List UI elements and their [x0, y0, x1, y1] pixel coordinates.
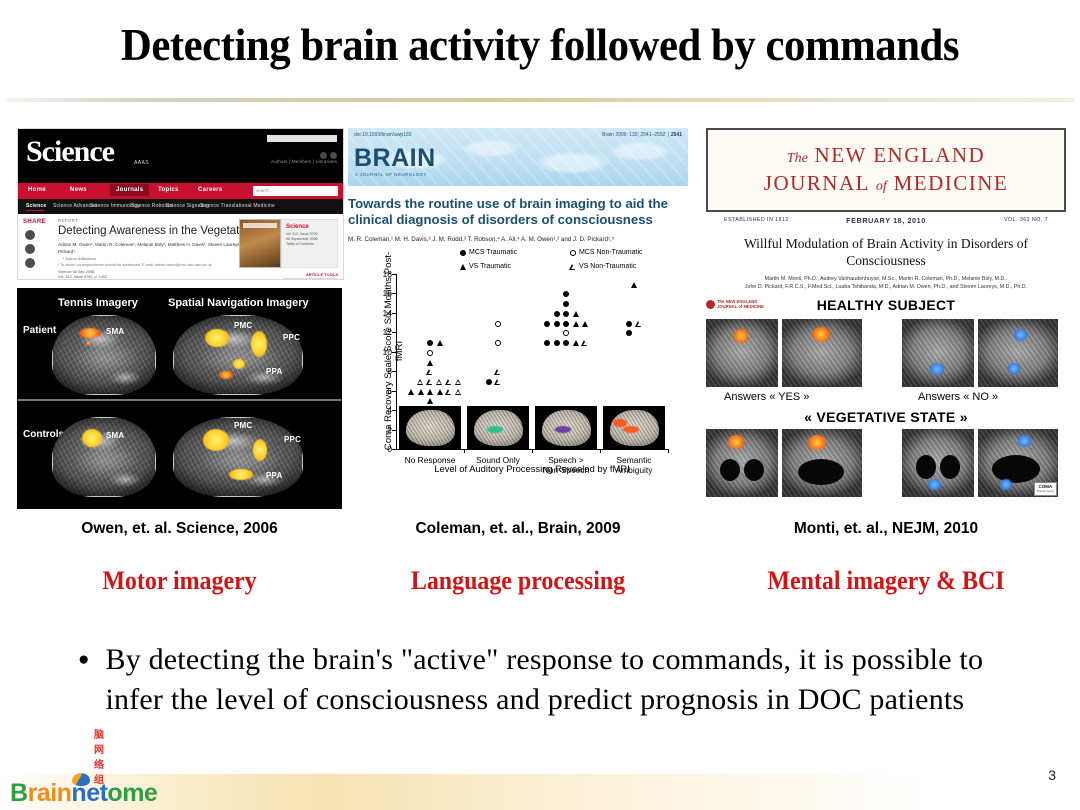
science-search-placeholder: search...: [256, 186, 338, 196]
coleman-scatter-chart: MCS Traumatic MCS Non-Traumatic VS Traum…: [348, 248, 688, 486]
cover-banner: [243, 223, 277, 228]
chart-y-tick-mark: [392, 371, 396, 372]
region-label-ppa: PPA: [266, 471, 282, 480]
science-article-body: SHARE REPORT Detecting Awareness in the …: [18, 214, 343, 279]
activation-blob: [203, 429, 229, 451]
region-label-ppc: PPC: [283, 333, 300, 342]
brain-citation: Brain 2009: 132; 2541–2552 | 2541: [602, 132, 682, 138]
caption-coleman: Coleman, et. al., Brain, 2009: [348, 520, 688, 538]
answer-label-no: Answers « NO »: [918, 391, 998, 403]
thumbnail-activation: [487, 426, 503, 433]
activation-blob: [86, 341, 91, 345]
subnav-item-science[interactable]: Science: [26, 203, 46, 209]
chart-data-point: [544, 314, 550, 332]
title-divider: [6, 98, 1074, 102]
nav-item-topics[interactable]: Topics: [158, 187, 179, 193]
chart-x-axis-label: Level of Auditory Processing Revealed by…: [396, 463, 668, 474]
logo-letter-b: B: [10, 779, 28, 807]
activation-blob: [930, 363, 944, 375]
marker-filled-triangle: [408, 389, 414, 395]
chart-y-tick-label: 18: [382, 269, 392, 279]
chart-data-point: [486, 372, 492, 390]
scan-vs-yes-coronal: [706, 429, 778, 497]
scan-healthy-no-coronal: [902, 319, 974, 387]
marker-filled-triangle: [582, 321, 588, 327]
activation-blob: [251, 331, 267, 357]
brain-scan-patient-tennis: [52, 315, 156, 395]
brain-journal-tagline: A JOURNAL OF NEUROLOGY: [355, 172, 427, 177]
article-authors: Adrian M. Owen¹, Martin R. Coleman¹, Mel…: [58, 241, 263, 255]
subnav-item-translational[interactable]: Science Translational Medicine: [200, 203, 275, 209]
enlarged-ventricle: [940, 455, 960, 479]
scan-vs-no-coronal: [902, 429, 974, 497]
coma-badge-subtitle: Science Group: [1037, 489, 1054, 494]
enlarged-ventricle: [992, 455, 1040, 483]
red-label-language-processing: Language processing: [362, 566, 675, 596]
nejm-article-authors: Martin M. Monti, Ph.D., Audrey Vanhauden…: [706, 275, 1066, 291]
chart-data-point: [427, 391, 433, 409]
logo-text-ome: ome: [107, 779, 157, 807]
journal-cover-thumbnail[interactable]: [239, 219, 281, 268]
science-primary-nav[interactable]: Home News Journals Topics Careers search…: [18, 183, 343, 199]
marker-filled-circle: [626, 330, 632, 336]
activation-blob: [812, 327, 830, 342]
facebook-icon[interactable]: [25, 230, 35, 240]
marker-filled-triangle: [573, 340, 579, 346]
chart-data-point: [418, 382, 424, 400]
chart-data-point: [582, 333, 588, 351]
marker-filled-circle: [486, 379, 492, 385]
aaas-label: AAAS: [134, 160, 149, 166]
brain-journal-title: BRAIN: [354, 144, 436, 173]
activation-blob: [928, 479, 941, 490]
science-top-search-box[interactable]: [267, 135, 337, 142]
region-label-ppc: PPC: [284, 435, 301, 444]
activation-blob: [1008, 363, 1020, 374]
science-secondary-nav[interactable]: Science Science Advances Science Immunol…: [18, 199, 343, 214]
chart-x-tick-mark: [532, 449, 533, 453]
legend-marker-open-triangle: [570, 264, 576, 270]
figure-heading-vegetative: « VEGETATIVE STATE »: [706, 409, 1066, 425]
legend-marker-filled-triangle: [460, 264, 466, 270]
issue-journal-name: Science: [286, 224, 337, 230]
activation-blob: [1014, 329, 1027, 341]
share-icons[interactable]: [25, 230, 35, 272]
caption-owen: Owen, et. al. Science, 2006: [17, 520, 342, 538]
legend-marker-filled-circle: [460, 250, 466, 256]
activation-blob: [233, 359, 245, 369]
nejm-volume: VOL. 362 NO. 7: [1004, 217, 1048, 223]
nejm-journal: JOURNAL: [764, 171, 869, 195]
nejm-of: of: [876, 179, 887, 194]
science-logo: Science: [26, 135, 114, 169]
marker-filled-triangle: [437, 340, 443, 346]
activation-blob: [82, 429, 102, 447]
activation-blob: [734, 329, 748, 343]
chart-data-point: [636, 314, 642, 332]
chart-data-point: [408, 382, 414, 400]
article-citation: Science 08 Sep 2006: Vol. 313, Issue 579…: [58, 270, 110, 280]
brain-thumbnail: [603, 406, 665, 449]
nejm-the: The: [787, 151, 808, 166]
nejm-new-england: NEW ENGLAND: [815, 143, 986, 167]
scan-healthy-yes-coronal: [706, 319, 778, 387]
scan-healthy-yes-sagittal: [782, 319, 862, 387]
legend-label-mcs-nontraumatic: MCS Non-Traumatic: [579, 249, 643, 256]
scan-healthy-no-sagittal: [978, 319, 1058, 387]
region-label-sma: SMA: [106, 327, 124, 336]
chart-data-point: [437, 382, 443, 400]
marker-open-triangle: [456, 389, 462, 395]
nejm-meta-row: ESTABLISHED IN 1812 FEBRUARY 18, 2010 VO…: [706, 217, 1066, 228]
chart-data-point: [446, 382, 452, 400]
chart-data-point: [544, 333, 550, 351]
nav-item-careers[interactable]: Careers: [198, 187, 222, 193]
chart-x-tick-mark: [668, 449, 669, 453]
chart-data-point: [631, 275, 637, 293]
nejm-date: FEBRUARY 18, 2010: [846, 216, 926, 225]
subnav-active-underline: [26, 210, 44, 211]
chart-y-tick-mark: [392, 293, 396, 294]
chart-data-point: [554, 333, 560, 351]
chart-x-tick-mark: [600, 449, 601, 453]
activation-blob: [229, 469, 253, 480]
red-label-motor-imagery: Motor imagery: [30, 566, 329, 596]
activation-blob: [253, 439, 267, 461]
chart-data-point: [563, 333, 569, 351]
chart-y-tick-label: 16: [382, 288, 392, 298]
logo-text-rain: rain: [28, 779, 72, 807]
region-label-ppa: PPA: [266, 367, 282, 376]
region-label-pmc: PMC: [234, 321, 252, 330]
monti-figure: The NEW ENGLAND JOURNAL of MEDICINE HEAL…: [706, 297, 1066, 497]
activation-blob: [808, 435, 826, 450]
panel-nejm: The NEW ENGLAND JOURNAL of MEDICINE ESTA…: [706, 128, 1066, 497]
legend-label-mcs-traumatic: MCS Traumatic: [469, 249, 517, 256]
chart-y-axis-line: [396, 274, 397, 449]
activation-blob: [728, 435, 744, 449]
thumbnail-activation: [555, 426, 571, 433]
region-label-sma: SMA: [106, 431, 124, 440]
chart-y-tick-mark: [392, 332, 396, 333]
marker-filled-triangle: [418, 389, 424, 395]
scan-vs-no-sagittal: COMA Science Group: [978, 429, 1058, 497]
chart-data-point: [626, 323, 632, 341]
nejm-established: ESTABLISHED IN 1812: [724, 217, 789, 223]
marker-open-circle: [495, 340, 501, 346]
chart-y-tick-mark: [392, 430, 396, 431]
marker-filled-circle: [544, 340, 550, 346]
marker-open-triangle: [446, 389, 452, 395]
figure-heading-healthy: HEALTHY SUBJECT: [706, 297, 1066, 313]
owen-fmri-figure: Tennis Imagery Spatial Navigation Imager…: [17, 288, 342, 509]
activation-blob: [205, 329, 229, 347]
legend-label-vs-nontraumatic: VS Non-Traumatic: [579, 263, 636, 270]
chart-data-point: [573, 314, 579, 332]
caption-monti: Monti, et. al., NEJM, 2010: [706, 520, 1066, 538]
nav-item-journals[interactable]: Journals: [110, 184, 149, 196]
enlarged-ventricle: [720, 459, 740, 481]
chart-data-point: [554, 314, 560, 332]
coma-science-group-badge: COMA Science Group: [1034, 482, 1057, 496]
science-search-input[interactable]: search...: [253, 186, 338, 196]
region-label-pmc: PMC: [234, 421, 252, 430]
chart-y-tick-mark: [392, 391, 396, 392]
bullet-marker-icon: ●: [78, 640, 89, 720]
brain-thumbnail: [467, 406, 529, 449]
bullet-list: ● By detecting the brain's "active" resp…: [78, 640, 1038, 720]
figure-row-divider: [18, 399, 342, 401]
chart-y-tick-mark: [392, 449, 396, 450]
bullet-text: By detecting the brain's "active" respon…: [105, 640, 1038, 720]
chart-data-point: [495, 314, 501, 332]
nejm-article-title: Willful Modulation of Brain Activity in …: [706, 235, 1066, 269]
marker-filled-circle: [544, 321, 550, 327]
chart-data-point: [573, 333, 579, 351]
science-website-screenshot: Science AAAS Authors | Members | Librari…: [17, 128, 344, 280]
nejm-masthead-line2: JOURNAL of MEDICINE: [708, 171, 1064, 196]
share-label: SHARE: [23, 219, 46, 225]
enlarged-ventricle: [916, 455, 936, 479]
scan-vs-yes-sagittal: [782, 429, 862, 497]
article-kicker: REPORT: [58, 218, 78, 223]
thumbnail-activation: [623, 426, 639, 433]
nejm-masthead-line1: The NEW ENGLAND: [708, 143, 1064, 168]
chart-y-tick-label: 10: [382, 347, 392, 357]
marker-filled-triangle: [437, 389, 443, 395]
panel-science: Science AAAS Authors | Members | Librari…: [17, 128, 342, 509]
marker-open-triangle: [495, 379, 501, 385]
email-icon[interactable]: [25, 258, 35, 268]
marker-filled-circle: [563, 340, 569, 346]
brain-thumbnail: [399, 406, 461, 449]
twitter-icon[interactable]: [25, 244, 35, 254]
page-title: Detecting brain activity followed by com…: [38, 18, 1042, 71]
chart-data-point: [495, 372, 501, 390]
marker-open-circle: [495, 321, 501, 327]
thumbnail-activation: [613, 419, 627, 427]
answer-label-yes: Answers « YES »: [724, 391, 809, 403]
brain-citation-text: Brain 2009: 132; 2541–2552: [602, 132, 665, 138]
enlarged-ventricle: [798, 459, 844, 485]
issue-meta: Vol 313, Issue 5792 08 September 2006 Ta…: [286, 232, 337, 247]
brain-article-authors: M. R. Coleman,¹ M. H. Davis,² J. M. Rodd…: [348, 235, 684, 244]
corresponding-author-note: ¹ To whom correspondence should be addre…: [58, 263, 212, 267]
author-affiliations-toggle[interactable]: + Author Affiliations: [62, 256, 96, 261]
marker-filled-triangle: [427, 398, 433, 404]
marker-filled-circle: [554, 340, 560, 346]
chart-x-tick-mark: [464, 449, 465, 453]
nav-item-home[interactable]: Home: [28, 187, 46, 193]
red-label-mental-imagery-bci: Mental imagery & BCI: [720, 566, 1051, 596]
page-number: 3: [1048, 767, 1056, 783]
marker-open-triangle: [582, 340, 588, 346]
brain-journal-header: doi:10.1093/brain/awp183 Brain 2009: 132…: [348, 128, 688, 186]
chart-data-point: [456, 382, 462, 400]
figure-col-spatial: Spatial Navigation Imagery: [168, 297, 309, 309]
chart-y-tick-mark: [392, 313, 396, 314]
marker-open-triangle: [636, 321, 642, 327]
nejm-medicine: MEDICINE: [894, 171, 1009, 195]
nejm-masthead: The NEW ENGLAND JOURNAL of MEDICINE: [706, 128, 1066, 212]
brain-doi: doi:10.1093/brain/awp183: [354, 132, 412, 138]
chart-y-tick-label: 14: [382, 308, 392, 318]
activation-blob: [219, 371, 233, 379]
marker-filled-circle: [554, 321, 560, 327]
brain-page-number: 2541: [671, 132, 682, 138]
brain-scan-controls-tennis: [52, 417, 156, 497]
activation-blob: [1000, 479, 1012, 490]
issue-info-box: Science Vol 313, Issue 5792 08 September…: [281, 219, 338, 268]
brain-article-title: Towards the routine use of brain imaging…: [348, 196, 686, 228]
nav-item-news[interactable]: News: [70, 187, 87, 193]
science-masthead: Science AAAS Authors | Members | Librari…: [18, 129, 343, 183]
footer-band: Brainnetome 脑网络组 3: [0, 774, 1080, 810]
chart-data-point: [582, 314, 588, 332]
chart-y-tick-mark: [392, 274, 396, 275]
chart-y-tick-label: 12: [382, 327, 392, 337]
chart-y-tick-mark: [392, 410, 396, 411]
enlarged-ventricle: [744, 459, 764, 481]
legend-marker-open-circle: [570, 250, 576, 256]
chart-data-point: [495, 333, 501, 351]
chart-plot-area: 024681012141618No ResponseSound OnlySpee…: [396, 274, 668, 449]
logo-chinese-text: 脑网络组: [94, 726, 105, 786]
chart-data-point: [437, 333, 443, 351]
chart-y-tick-mark: [392, 352, 396, 353]
legend-label-vs-traumatic: VS Traumatic: [469, 263, 511, 270]
marker-filled-triangle: [631, 282, 637, 288]
marker-filled-triangle: [573, 321, 579, 327]
brain-thumbnail: [535, 406, 597, 449]
tools-divider: [283, 278, 338, 279]
article-tools-label[interactable]: ARTICLE TOOLS: [306, 272, 338, 277]
panel-brain: doi:10.1093/brain/awp183 Brain 2009: 132…: [348, 128, 688, 486]
activation-blob: [1018, 435, 1031, 447]
figure-col-tennis: Tennis Imagery: [58, 297, 138, 309]
science-top-links[interactable]: Authors | Members | Librarians: [271, 159, 337, 164]
brain-icon: [72, 773, 90, 786]
activation-blob: [79, 328, 101, 338]
